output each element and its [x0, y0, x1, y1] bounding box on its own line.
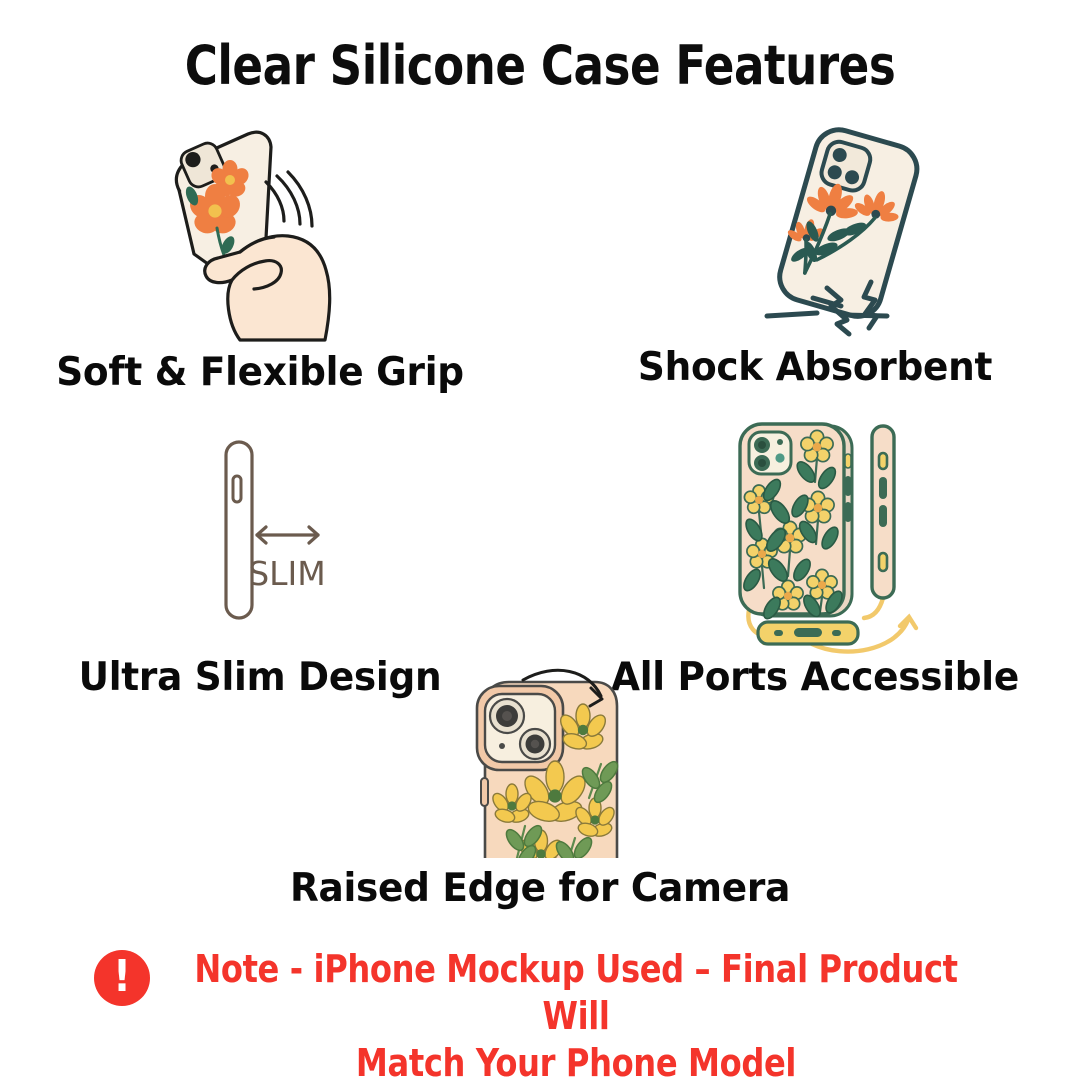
phone-ports-cutouts-icon — [712, 420, 962, 660]
note-banner: ! Note - iPhone Mockup Used – Final Prod… — [0, 946, 1080, 1087]
phone-drop-impact-icon — [725, 120, 955, 340]
width-arrow-icon — [257, 527, 318, 543]
feature-label-soft-flexible-grip: Soft & Flexible Grip — [30, 350, 491, 395]
slim-caption: SLIM — [248, 554, 326, 593]
feature-infographic: Clear Silicone Case Features — [0, 0, 1080, 1080]
phone-bottom-edge-ports — [758, 622, 858, 644]
phone-back-floral — [740, 424, 852, 621]
page-title: Clear Silicone Case Features — [38, 34, 1042, 97]
feature-label-ultra-slim-design: Ultra Slim Design — [39, 655, 481, 700]
feature-label-all-ports-accessible: All Ports Accessible — [599, 655, 1031, 700]
raised-camera-bump-icon — [455, 668, 645, 858]
ultra-slim-design-illustration: SLIM — [185, 430, 365, 635]
note-text: Note - iPhone Mockup Used – Final Produc… — [191, 946, 962, 1087]
exclamation-circle-icon: ! — [94, 950, 150, 1006]
exclamation-glyph: ! — [113, 955, 131, 999]
motion-lines-icon — [266, 172, 312, 226]
shock-absorbent-illustration — [725, 120, 955, 345]
phone-side-edge — [872, 426, 894, 598]
phone-side-profile-slim-icon: SLIM — [185, 430, 365, 630]
feature-label-shock-absorbent: Shock Absorbent — [609, 345, 1022, 390]
hand-flexing-phone-case-icon — [120, 118, 380, 348]
note-line-1: Note - iPhone Mockup Used – Final Produc… — [194, 947, 957, 1038]
raised-edge-for-camera-illustration — [455, 668, 645, 863]
feature-label-raised-edge-for-camera: Raised Edge for Camera — [262, 866, 819, 911]
soft-flexible-grip-illustration — [120, 118, 380, 353]
all-ports-accessible-illustration — [712, 420, 962, 665]
